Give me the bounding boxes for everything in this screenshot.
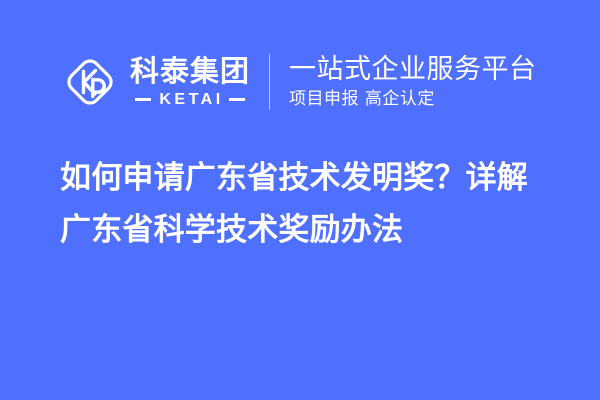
tagline-sub: 项目申报 高企认定: [289, 89, 537, 109]
tagline-block: 一站式企业服务平台 项目申报 高企认定: [289, 55, 537, 109]
brand-name-en: KETAI: [151, 91, 228, 108]
page-title: 如何申请广东省技术发明奖？详解 广东省科学技术奖励办法: [60, 152, 560, 256]
tagline-main: 一站式企业服务平台: [289, 55, 537, 84]
brand-name-cn: 科泰集团: [130, 56, 250, 88]
brand-name-en-row: KETAI: [130, 91, 250, 108]
promo-banner: 科泰集团 KETAI 一站式企业服务平台 项目申报 高企认定 如何申请广东省技术…: [0, 0, 600, 400]
headline-line-2: 广东省科学技术奖励办法: [60, 204, 560, 256]
header-divider: [269, 54, 270, 110]
wordmark-dash-left-icon: [135, 98, 151, 101]
brand-lockup[interactable]: 科泰集团 KETAI: [58, 50, 250, 114]
headline-line-1: 如何申请广东省技术发明奖？详解: [60, 152, 560, 204]
ketai-diamond-monogram-icon: [58, 50, 122, 114]
brand-wordmark: 科泰集团 KETAI: [130, 56, 250, 108]
wordmark-dash-right-icon: [229, 98, 245, 101]
banner-header: 科泰集团 KETAI 一站式企业服务平台 项目申报 高企认定: [0, 42, 600, 122]
